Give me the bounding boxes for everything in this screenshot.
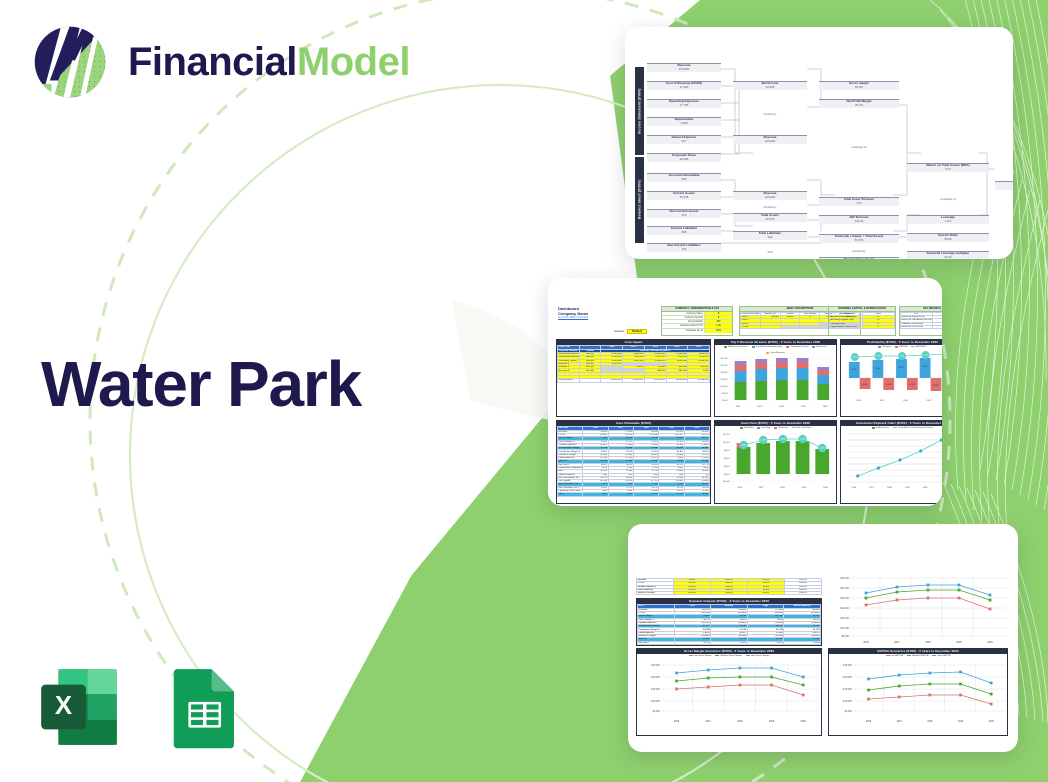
svg-text:$10,000: $10,000 [721, 386, 729, 388]
brand-name-part1: Financial [128, 40, 297, 84]
cash-flow-x-axis: 2026 2027 2028 2029 2030 [715, 487, 836, 489]
svg-text:$30,000: $30,000 [840, 587, 849, 590]
panel-cash-flow: Cash Flow ($'000) - 5 Years to December … [714, 420, 837, 504]
scenario-outputs-table: KPIs Low Medium High Active (Medium) Rev… [637, 604, 821, 645]
dupont-node-net-profit-margin: Net Profit Margin35.2% [819, 99, 899, 108]
dupont-operator-multiplied-by-1: multiplied by [819, 145, 899, 149]
svg-text:$1,000: $1,000 [845, 710, 853, 713]
circle-bar-chart-icon [28, 20, 112, 104]
scenario-sheet: Revenue80.0%100.0%120.0%100.0% COGS105.0… [636, 538, 1012, 738]
table-row: Cash6,4009,12020,76526,33836,060 [558, 493, 710, 496]
svg-text:(10,548): (10,548) [862, 384, 869, 386]
dupont-node-ar-turnover: A/R Turnover144.24 [819, 215, 899, 224]
svg-text:11,508: 11,508 [780, 439, 785, 441]
svg-text:43.3%: 43.3% [876, 356, 881, 358]
dupont-node-accounts-receivable: Accounts Receivable948 [647, 173, 721, 182]
dupont-node-total-liabilities: Total Liabilities949 [733, 231, 807, 240]
svg-text:2030: 2030 [989, 720, 995, 723]
svg-text:$(2,000): $(2,000) [723, 481, 730, 483]
panel-top5-revenue: Top 5 Revenue Streams ($'000) - 5 Years … [714, 339, 837, 417]
brand-name-part2: Model [297, 40, 410, 84]
dupont-operator-divided-by-3: divided by [819, 249, 899, 253]
ebitda-plot: $25,000$20,000 $15,000$10,000$1,000 [829, 657, 1007, 725]
scenario-body: Revenue80.0%100.0%120.0%100.0% COGS105.0… [636, 538, 1012, 738]
dupont-node-roa: Return on Total Assets (ROA)0.97 [907, 163, 989, 172]
dupont-node-operating-expenses: Operating Expenses17,758 [647, 99, 721, 108]
svg-text:$2,000: $2,000 [724, 474, 730, 476]
assumptions-currency-rows: Currency Name$ Currency Symbol$ Denomina… [662, 312, 732, 333]
panel-core-inputs: Core Inputs Fiscal Year 2026 2027 2028 2… [556, 339, 711, 417]
table-row: Return on Cash (ROI)1.05x [901, 325, 943, 328]
svg-text:$5,000: $5,000 [722, 393, 729, 395]
core-inputs-table: Fiscal Year 2026 2027 2028 2029 2030 Rev… [557, 345, 710, 382]
table-row: Salaries & Wages105.0%100.0%95.0%100.0% [637, 592, 822, 595]
dupont-node-roe: Return on Equity (ROE)61.03 [995, 181, 1013, 190]
svg-text:$35,000: $35,000 [840, 577, 849, 580]
svg-text:2026: 2026 [674, 720, 680, 723]
page-title: Water Park [41, 352, 361, 416]
dupont-operator-add: Add [733, 250, 807, 254]
panel-ebitda-scenarios: EBITDA Scenarios ($'000) - 5 Years to De… [828, 648, 1008, 736]
dupont-sheet: Income Statement ($'000) Balance Sheet (… [635, 45, 1005, 245]
svg-text:2029: 2029 [956, 641, 962, 644]
svg-text:$15,000: $15,000 [843, 688, 852, 691]
svg-text:$6,000: $6,000 [724, 458, 730, 460]
panel-investment-payback: Investment Payback Chart ($'000) - 5 Yea… [840, 420, 942, 504]
svg-text:$1,000: $1,000 [653, 710, 661, 713]
brand-logo: FinancialModel [28, 20, 410, 104]
svg-text:27,000: 27,000 [875, 368, 880, 370]
dupont-node-current-liabilities: Current Liabilities848 [647, 226, 721, 235]
dupont-node-corporate-taxes: Corporate Taxes20,926 [647, 153, 721, 162]
dupont-node-gross-margin: Gross margin65.0% [819, 81, 899, 90]
svg-text:$10,000: $10,000 [843, 700, 852, 703]
dupont-node-net-income: Net Income44,628 [733, 81, 807, 90]
svg-text:$1,000: $1,000 [722, 400, 729, 402]
panel-profitability: Profitability ($'000) - 5 Years to Decem… [840, 339, 942, 417]
svg-text:$10,000: $10,000 [723, 442, 730, 444]
svg-text:$8,000: $8,000 [724, 450, 730, 452]
assumptions-working-capital-table: AssumptionValue Accounts Receivable Days… [829, 312, 895, 329]
dupont-operator-divided-by-2: divided by [733, 205, 807, 209]
top5-revenue-x-axis: 2026 2027 2028 2029 2030 [715, 406, 836, 408]
svg-text:$15,000: $15,000 [840, 617, 849, 620]
svg-text:2027: 2027 [894, 641, 900, 644]
svg-text:2026: 2026 [866, 720, 872, 723]
svg-text:$10,000: $10,000 [840, 627, 849, 630]
svg-text:$20,000: $20,000 [840, 607, 849, 610]
svg-text:(12,206): (12,206) [909, 384, 916, 386]
dupont-tree: Income Statement ($'000) Balance Sheet (… [635, 45, 1005, 245]
svg-text:2028: 2028 [925, 641, 931, 644]
poster-canvas: FinancialModel Water Park X [0, 0, 1048, 782]
table-row: Depreciation Period (Years)5 [830, 325, 895, 328]
cash-flow-plot: $12,000$10,000 $8,000$6,000 $4,000$2,000… [715, 429, 836, 487]
microsoft-excel-icon[interactable]: X [36, 664, 122, 750]
svg-text:40.2%: 40.2% [852, 357, 857, 359]
svg-text:29,000: 29,000 [898, 367, 903, 369]
scenario-summary-chart: $35,000$30,000 $25,000$20,000 $15,000$10… [828, 572, 1008, 644]
payback-x-axis: 2026 2027 2028 2029 2030 [841, 487, 942, 489]
dupont-node-depreciation: Depreciation1,265 [647, 117, 721, 126]
scenario-value[interactable]: Medium [627, 329, 647, 334]
svg-text:$25,000: $25,000 [840, 597, 849, 600]
svg-text:2029: 2029 [769, 720, 775, 723]
screenshot-card-dupont-analysis[interactable]: Income Statement ($'000) Balance Sheet (… [625, 27, 1013, 259]
svg-text:$20,000: $20,000 [721, 372, 729, 374]
dupont-operator-divided-by-1: divided by [733, 112, 807, 116]
dupont-node-financial-leverage-multiplier: Financial Leverage multiplier63.22 [907, 251, 989, 259]
dashboard-toc-link[interactable]: Go to the Table of Content [558, 316, 588, 319]
svg-text:43.7%: 43.7% [923, 355, 928, 357]
svg-text:24,400: 24,400 [851, 369, 856, 371]
svg-text:2029: 2029 [958, 720, 964, 723]
panel-investment-payback-title: Investment Payback Chart ($'000) - 5 Yea… [841, 421, 942, 426]
svg-text:2028: 2028 [737, 720, 743, 723]
scenario-assumptions-table: Revenue80.0%100.0%120.0%100.0% COGS105.0… [636, 578, 822, 595]
dupont-node-cogs: Cost of Revenue (COGS)47,680 [647, 81, 721, 90]
dashboard-heading: Dashboard Company Name Go to the Table o… [558, 306, 588, 320]
dupont-node-current-ratio: Current Ratio58.98 [907, 233, 989, 242]
top5-revenue-plot: $27,000$25,000 $20,000$15,000 $10,000$5,… [715, 354, 836, 406]
table-total-row: Total Revenue 26,400,000 27,900,000 29,4… [558, 379, 710, 382]
svg-text:$27,000: $27,000 [721, 358, 729, 360]
svg-text:(11,806): (11,806) [885, 384, 891, 386]
svg-text:10,496: 10,496 [800, 439, 805, 441]
core-financials-table: Line Item 2026 2027 2028 2029 2030 Reven… [557, 426, 710, 496]
svg-text:$20,000: $20,000 [843, 676, 852, 679]
assumptions-currency-block: CURRENCY, DENOMINATION & TAX Currency Na… [661, 306, 733, 336]
dupont-node-non-current-liabilities: Non Current Liabilities109 [647, 243, 721, 252]
dupont-node-revenue-asset-turnover: Revenue126,800 [733, 191, 807, 200]
screenshot-card-scenario-analysis[interactable]: Revenue80.0%100.0%120.0%100.0% COGS105.0… [628, 524, 1018, 752]
profitability-plot: 40.2%43.3% 42.0%43.7% 51.7% 24,40027,000… [841, 348, 942, 400]
svg-text:2027: 2027 [897, 720, 903, 723]
svg-text:30,331: 30,331 [922, 366, 927, 368]
svg-text:$20,000: $20,000 [651, 676, 660, 679]
svg-text:2030: 2030 [987, 641, 993, 644]
svg-text:6,943: 6,943 [741, 445, 745, 447]
svg-text:2030: 2030 [801, 720, 807, 723]
dupont-node-interest-expense: Interest Expense527 [647, 135, 721, 144]
dupont-node-current-assets: Current Assets50,006 [647, 191, 721, 200]
dashboard-sheet: Dashboard Company Name Go to the Table o… [556, 306, 936, 488]
svg-text:10,739: 10,739 [761, 440, 766, 442]
scenario-selector[interactable]: Scenario Medium [614, 329, 647, 334]
dupont-node-total-liab-equity: Total Liab + Equity = Total Assets50,576 [819, 234, 899, 243]
svg-text:$25,000: $25,000 [651, 664, 660, 667]
svg-text:$15,000: $15,000 [721, 379, 729, 381]
dupont-node-revenue: Revenue126,800 [647, 63, 721, 72]
top5-revenue-legend: Multi-pricing Service Small Barrel Manuf… [715, 345, 836, 354]
panel-top5-revenue-title: Top 5 Revenue Streams ($'000) - 5 Years … [715, 340, 836, 345]
svg-text:42.0%: 42.0% [900, 356, 905, 358]
gross-margin-plot: $25,000$20,000 $15,000$10,000$1,000 [637, 657, 821, 725]
dupont-node-total-asset-turnover: Total Asset Turnover2.51 [819, 197, 899, 206]
table-row: Corporate tax %30% [662, 329, 732, 333]
svg-text:X: X [55, 692, 72, 720]
panel-gross-margin-scenarios: Gross Margin Scenarios ($'000) - 5 Years… [636, 648, 822, 736]
svg-text:8,233: 8,233 [820, 448, 824, 450]
svg-text:$4,000: $4,000 [724, 466, 730, 468]
dupont-node-total-assets: Total Assets50,576 [733, 213, 807, 222]
profitability-x-axis: 2026 2027 2028 2029 2030 [841, 400, 942, 402]
screenshot-card-dashboard[interactable]: Dashboard Company Name Go to the Table o… [548, 278, 942, 506]
panel-scenario-outputs: Scenario Outputs ($'000) - 5 Years to De… [636, 598, 822, 646]
file-format-icons: X [36, 664, 246, 750]
dupont-node-revenue-denominator: Revenue126,800 [733, 135, 807, 144]
panel-core-financials: Core Financials ($'000) Line Item 2026 2… [556, 420, 711, 504]
svg-text:$25,000: $25,000 [843, 664, 852, 667]
svg-text:$5,000: $5,000 [842, 635, 850, 638]
svg-text:$10,000: $10,000 [651, 700, 660, 703]
table-row: EBITDA %45.2%52.0%57.0%52.0% [638, 641, 821, 644]
svg-text:$12,000: $12,000 [723, 434, 730, 436]
google-sheets-icon[interactable] [160, 664, 246, 750]
svg-text:2027: 2027 [706, 720, 712, 723]
dupont-operator-multiplied-by-2: multiplied by [907, 197, 989, 201]
svg-text:2028: 2028 [927, 720, 933, 723]
dupont-node-non-current-assets: Non Current Assets570 [647, 209, 721, 218]
dupont-node-shareholders-equity: Shareholder's Equity800 [819, 257, 899, 259]
dupont-node-leverage: Leverage1.9% [907, 215, 989, 224]
brand-name: FinancialModel [128, 42, 410, 82]
svg-text:$15,000: $15,000 [651, 688, 660, 691]
svg-text:2026: 2026 [863, 641, 869, 644]
svg-text:(13,096): (13,096) [932, 385, 939, 387]
dashboard-body: Dashboard Company Name Go to the Table o… [556, 306, 936, 488]
assumptions-key-metrics-table: KPIValue Return on Equity (ROE)61.0% Ret… [900, 312, 942, 329]
assumptions-working-capital-block: WORKING CAPITAL & DEPRECIATION Assumptio… [828, 306, 896, 336]
payback-plot: $75,000$70,000 $50,000$40,000 $30,000$25… [841, 429, 942, 487]
svg-text:$25,000: $25,000 [721, 365, 729, 367]
scenario-label: Scenario [614, 330, 624, 333]
assumptions-key-metrics-block: KEY METRICS KPIValue Return on Equity (R… [899, 306, 942, 336]
